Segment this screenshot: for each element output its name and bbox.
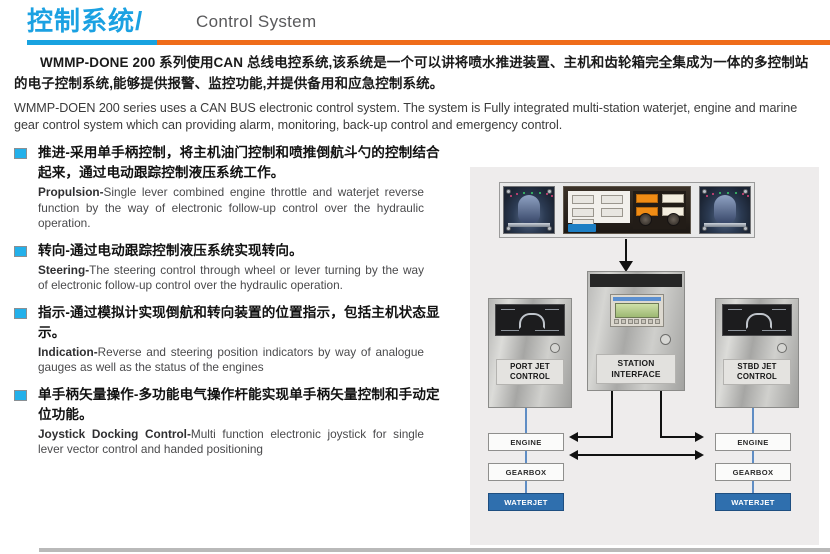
port-control-lever-icon [503,186,555,234]
stbd-gearbox-box: GEARBOX [715,463,791,481]
link-port-gearbox-waterjet [525,481,527,493]
port-waterjet-box: WATERJET [488,493,564,511]
feature-body-en: The steering control through wheel or le… [38,263,424,293]
list-item: 转向-通过电动跟踪控制液压系统实现转向。 Steering-The steeri… [0,241,452,294]
page-title-cn: 控制系统/ [27,6,143,36]
page-header: 控制系统/ Control System [0,0,830,48]
port-gearbox-box: GEARBOX [488,463,564,481]
intro-paragraph-cn: WMMP-DONE 200 系列使用CAN 总线电控系统,该系统是一个可以讲将喷… [14,52,820,94]
stbd-label-line2: CONTROL [737,372,777,381]
stbd-engine-box: ENGINE [715,433,791,451]
link-stbd-engine-gearbox [752,451,754,463]
bus-line-to-stbd [660,436,695,438]
port-label-line1: PORT JET [510,362,550,371]
feature-text-cn: 单手柄矢量操作-多功能电气操作杆能实现单手柄矢量控制和手动定位功能。 [38,385,452,425]
control-head-panel-icon [563,186,691,234]
bridge-console-strip [499,182,755,238]
port-jet-control-label: PORT JETCONTROL [496,359,564,385]
bus-line-port-stbd [578,454,696,456]
cabinet-header-strip [590,274,682,287]
station-interface-cabinet: STATIONINTERFACE [587,271,685,391]
arrow-head-right-icon [695,450,704,460]
square-bullet-icon [14,246,27,257]
hmi-title-bar [613,297,661,301]
station-label-line1: STATION [618,358,655,368]
connector-station-to-stbd [660,391,662,438]
feature-lead-en: Indication- [38,345,98,359]
feature-lead-en: Steering- [38,263,89,277]
port-engine-box: ENGINE [488,433,564,451]
list-item: 指示-通过模拟计实现倒航和转向装置的位置指示，包括主机状态显示。 Indicat… [0,303,452,376]
port-label-line2: CONTROL [510,372,550,381]
arrow-head-left-icon [569,432,578,442]
arrow-head-left-icon [569,450,578,460]
list-item: 推进-采用单手柄控制，将主机油门控制和喷推倒航斗勺的控制结合起来，通过电动跟踪控… [0,143,452,232]
connector-station-to-port [611,391,613,438]
port-jet-display [495,304,565,336]
stbd-jet-display [722,304,792,336]
stbd-label-line1: STBD JET [737,362,776,371]
feature-text-cn: 指示-通过模拟计实现倒航和转向装置的位置指示，包括主机状态显示。 [38,303,452,343]
feature-list: 推进-采用单手柄控制，将主机油门控制和喷推倒航斗勺的控制结合起来，通过电动跟踪控… [0,143,452,467]
feature-lead-en: Propulsion- [38,185,104,199]
feature-text-en: Steering-The steering control through wh… [38,263,452,294]
feature-text-en: Indication-Reverse and steering position… [38,345,452,376]
brand-logo-icon [568,224,596,232]
feature-lead-en: Joystick Docking Control- [38,427,191,441]
header-rule-orange [157,40,830,45]
bus-line-to-port [578,436,613,438]
feature-text-en: Joystick Docking Control-Multi function … [38,427,452,458]
status-indicator-led [660,334,671,345]
status-indicator-led [550,343,560,353]
control-system-diagram: STATIONINTERFACE PORT JETCONTROL ENGINE … [470,167,819,545]
square-bullet-icon [14,390,27,401]
arrow-head-right-icon [695,432,704,442]
link-port-engine-gearbox [525,451,527,463]
list-item: 单手柄矢量操作-多功能电气操作杆能实现单手柄矢量控制和手动定位功能。 Joyst… [0,385,452,458]
feature-text-cn: 推进-采用单手柄控制，将主机油门控制和喷推倒航斗勺的控制结合起来，通过电动跟踪控… [38,143,452,183]
status-indicator-led [777,343,787,353]
header-rule-blue [27,40,157,45]
square-bullet-icon [14,148,27,159]
link-port-cabinet-engine [525,408,527,433]
link-stbd-cabinet-engine [752,408,754,433]
hmi-screen [615,303,659,318]
feature-text-en: Propulsion-Single lever combined engine … [38,185,452,232]
lever-indicator-leds [508,192,550,199]
stbd-control-lever-icon [699,186,751,234]
intro-paragraph-en: WMMP-DOEN 200 series uses a CAN BUS elec… [14,100,820,134]
feature-text-cn: 转向-通过电动跟踪控制液压系统实现转向。 [38,241,452,261]
station-interface-label: STATIONINTERFACE [596,354,676,384]
connector-console-to-station [625,239,627,263]
page-title-en: Control System [196,12,316,32]
intro-block: WMMP-DONE 200 系列使用CAN 总线电控系统,该系统是一个可以讲将喷… [14,52,820,134]
hmi-keypad [614,319,660,324]
link-stbd-gearbox-waterjet [752,481,754,493]
stbd-waterjet-box: WATERJET [715,493,791,511]
panel-button-group-left [568,191,630,223]
station-label-line2: INTERFACE [611,369,660,379]
stbd-jet-control-label: STBD JETCONTROL [723,359,791,385]
square-bullet-icon [14,308,27,319]
port-jet-control-cabinet: PORT JETCONTROL [488,298,572,408]
lever-indicator-leds [704,192,746,199]
hmi-display-unit [610,294,664,327]
footer-rule [39,548,830,552]
panel-button-group-right [633,191,686,229]
stbd-jet-control-cabinet: STBD JETCONTROL [715,298,799,408]
